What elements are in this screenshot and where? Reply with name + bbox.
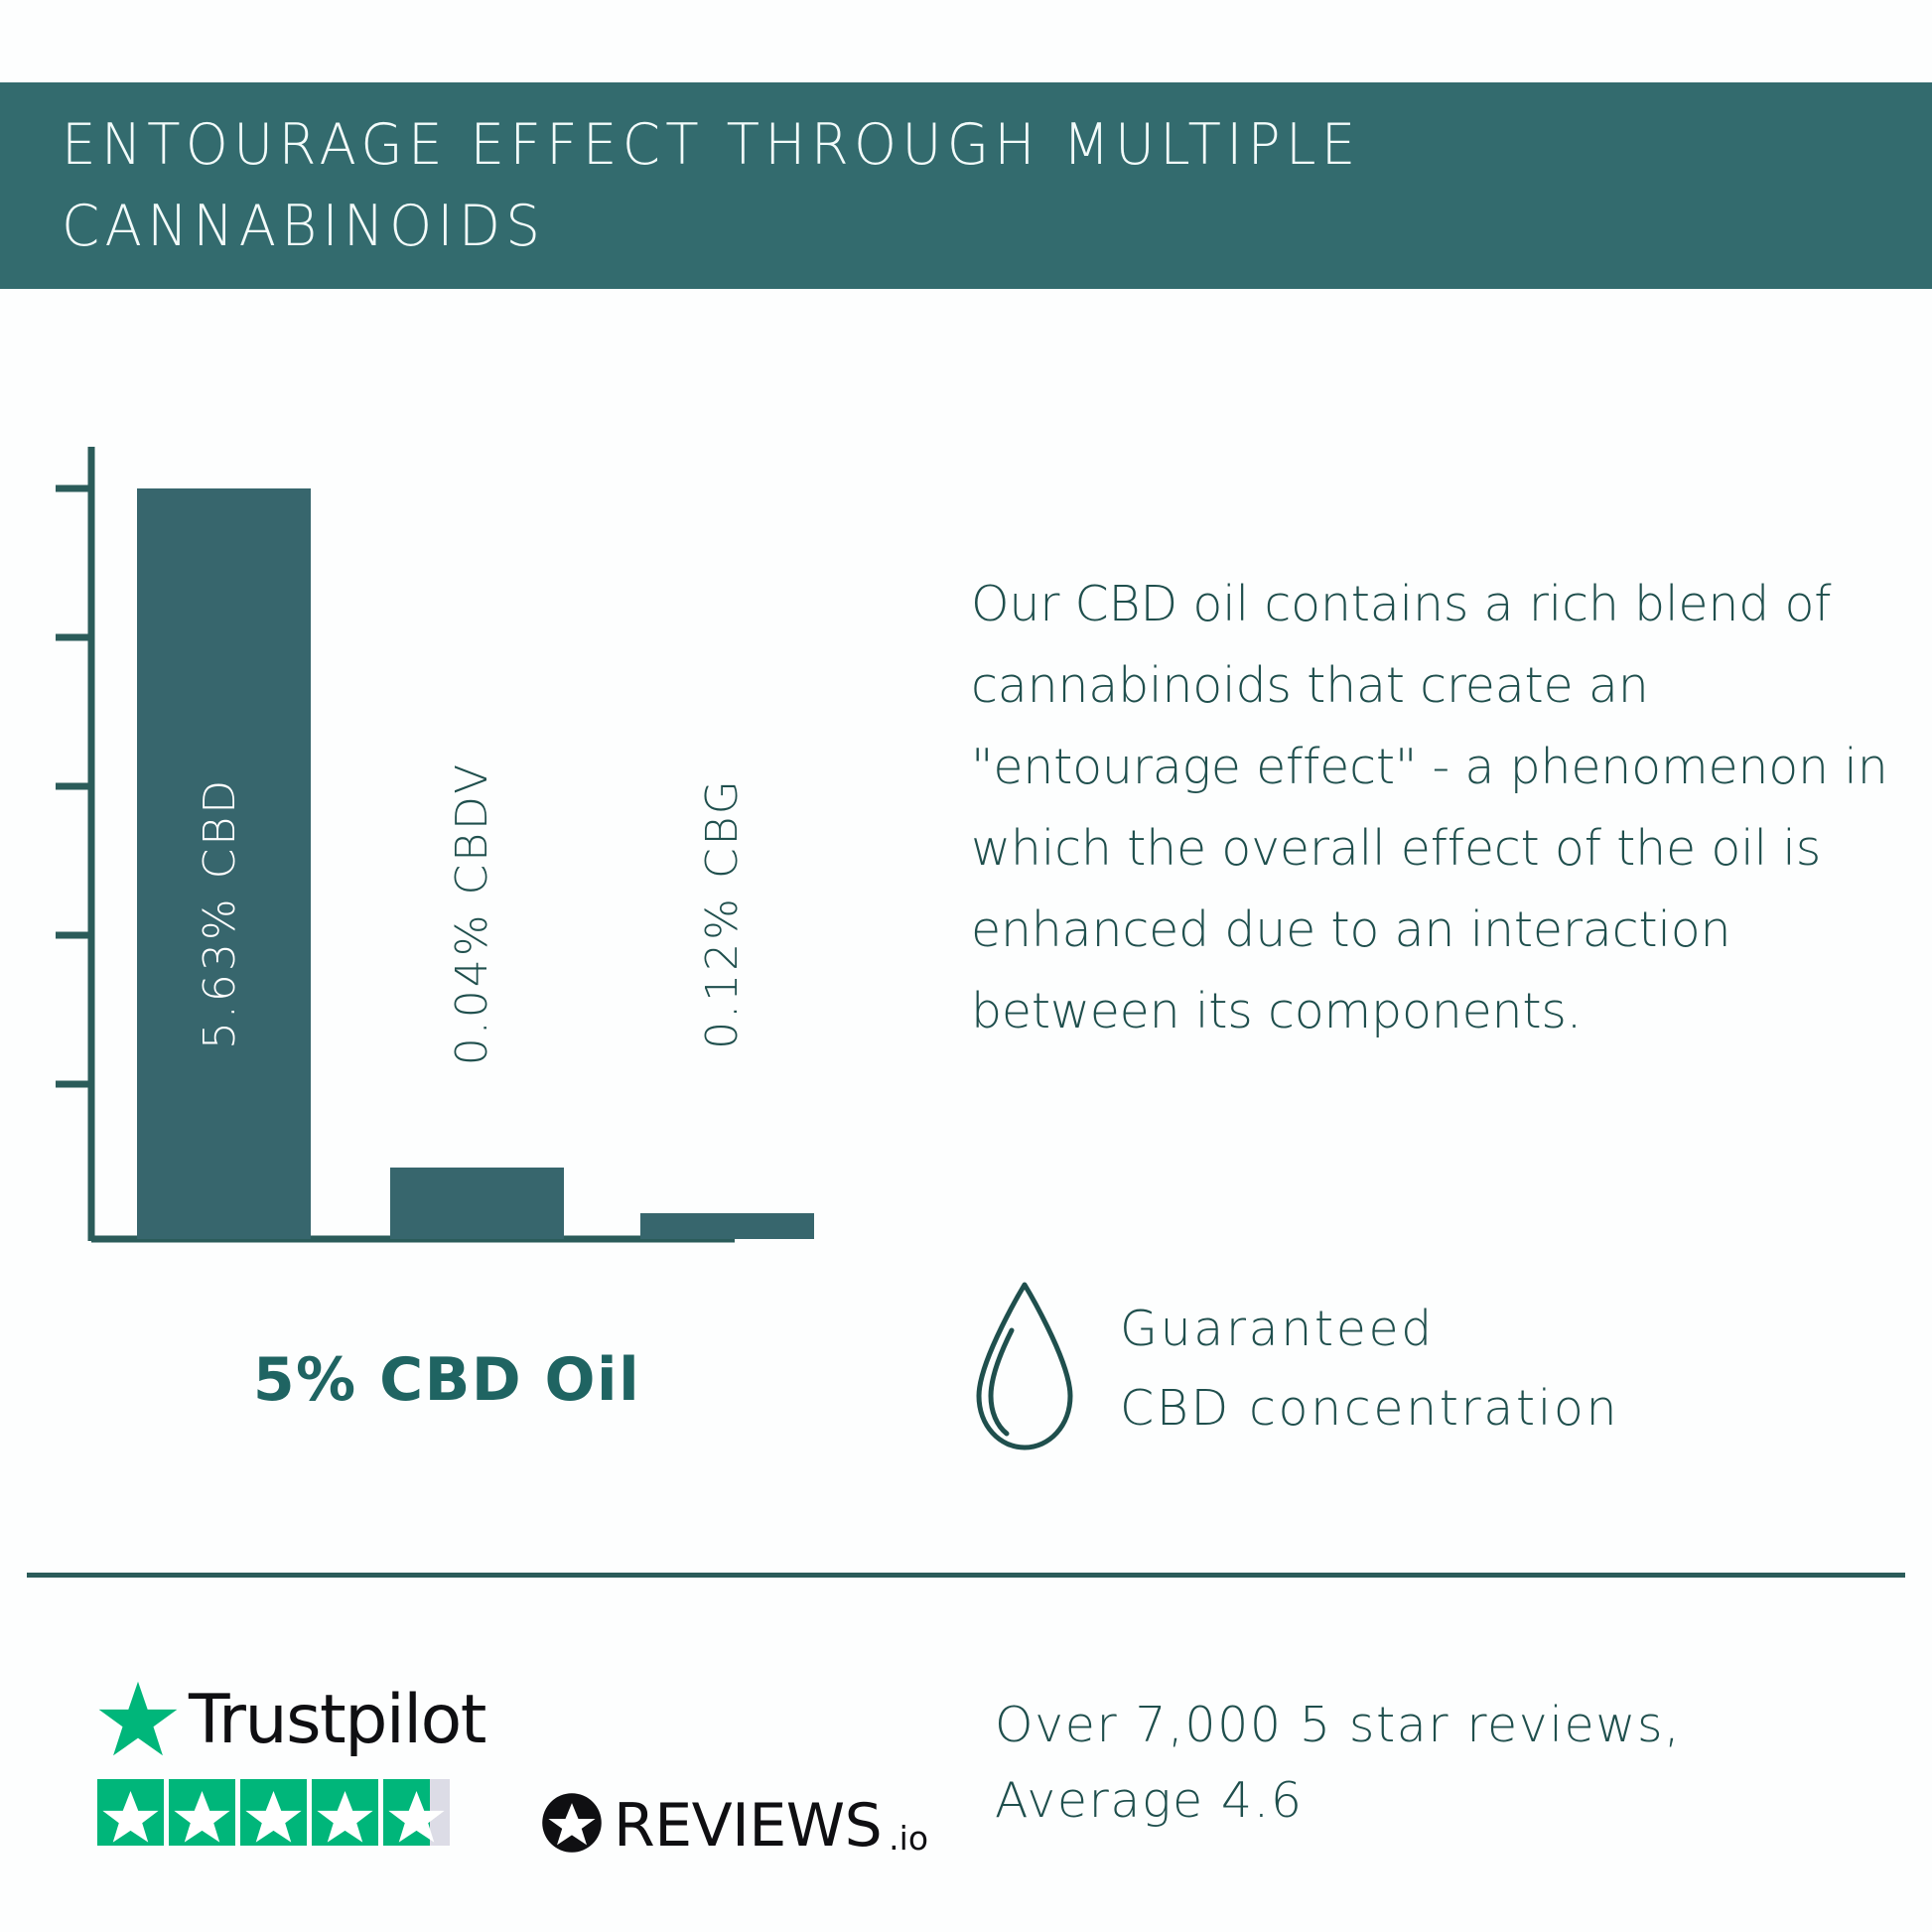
trustpilot-star-4	[312, 1779, 378, 1846]
droplet-icon	[971, 1279, 1078, 1458]
trustpilot-star-2	[169, 1779, 235, 1846]
page-title: ENTOURAGE EFFECT THROUGH MULTIPLE CANNAB…	[62, 104, 1800, 267]
y-axis-ticks	[56, 488, 91, 1084]
description-paragraph: Our CBD oil contains a rich blend of can…	[971, 564, 1894, 1052]
header-band: ENTOURAGE EFFECT THROUGH MULTIPLE CANNAB…	[0, 82, 1932, 289]
bar-cbdv	[390, 1168, 564, 1239]
reviewsio-label: REVIEWS	[614, 1796, 882, 1856]
bar-label-cbdv: 0.04% CBDV	[447, 761, 497, 1066]
reviewsio-badge[interactable]: REVIEWS .io	[541, 1792, 928, 1859]
trustpilot-star-rating	[97, 1779, 475, 1846]
trustpilot-star-3	[240, 1779, 307, 1846]
trustpilot-badge[interactable]: Trustpilot	[97, 1678, 475, 1846]
reviews-summary-text: Over 7,000 5 star reviews, Average 4.6	[995, 1688, 1908, 1839]
bar-cbg	[640, 1213, 814, 1239]
bar-label-cbd: 5.63% CBD	[195, 777, 245, 1049]
bar-label-cbg: 0.12% CBG	[697, 777, 748, 1049]
reviewsio-star-icon	[541, 1792, 603, 1859]
trustpilot-star-5-partial	[383, 1779, 450, 1846]
chart-caption: 5% CBD Oil	[0, 1345, 894, 1415]
section-divider	[27, 1573, 1905, 1578]
cannabinoid-bar-chart: 5.63% CBD 0.04% CBDV 0.12% CBG	[0, 417, 953, 1291]
trustpilot-star-icon	[97, 1680, 179, 1762]
chart-svg: 5.63% CBD 0.04% CBDV 0.12% CBG	[0, 417, 953, 1291]
guarantee-block: Guaranteed CBD concentration	[971, 1279, 1619, 1458]
reviewsio-tld: .io	[889, 1822, 928, 1855]
trustpilot-label: Trustpilot	[189, 1687, 485, 1754]
guarantee-text: Guaranteed CBD concentration	[1120, 1290, 1619, 1449]
trustpilot-wordmark: Trustpilot	[97, 1678, 475, 1763]
infographic-page: ENTOURAGE EFFECT THROUGH MULTIPLE CANNAB…	[0, 0, 1932, 1932]
trustpilot-star-1	[97, 1779, 164, 1846]
